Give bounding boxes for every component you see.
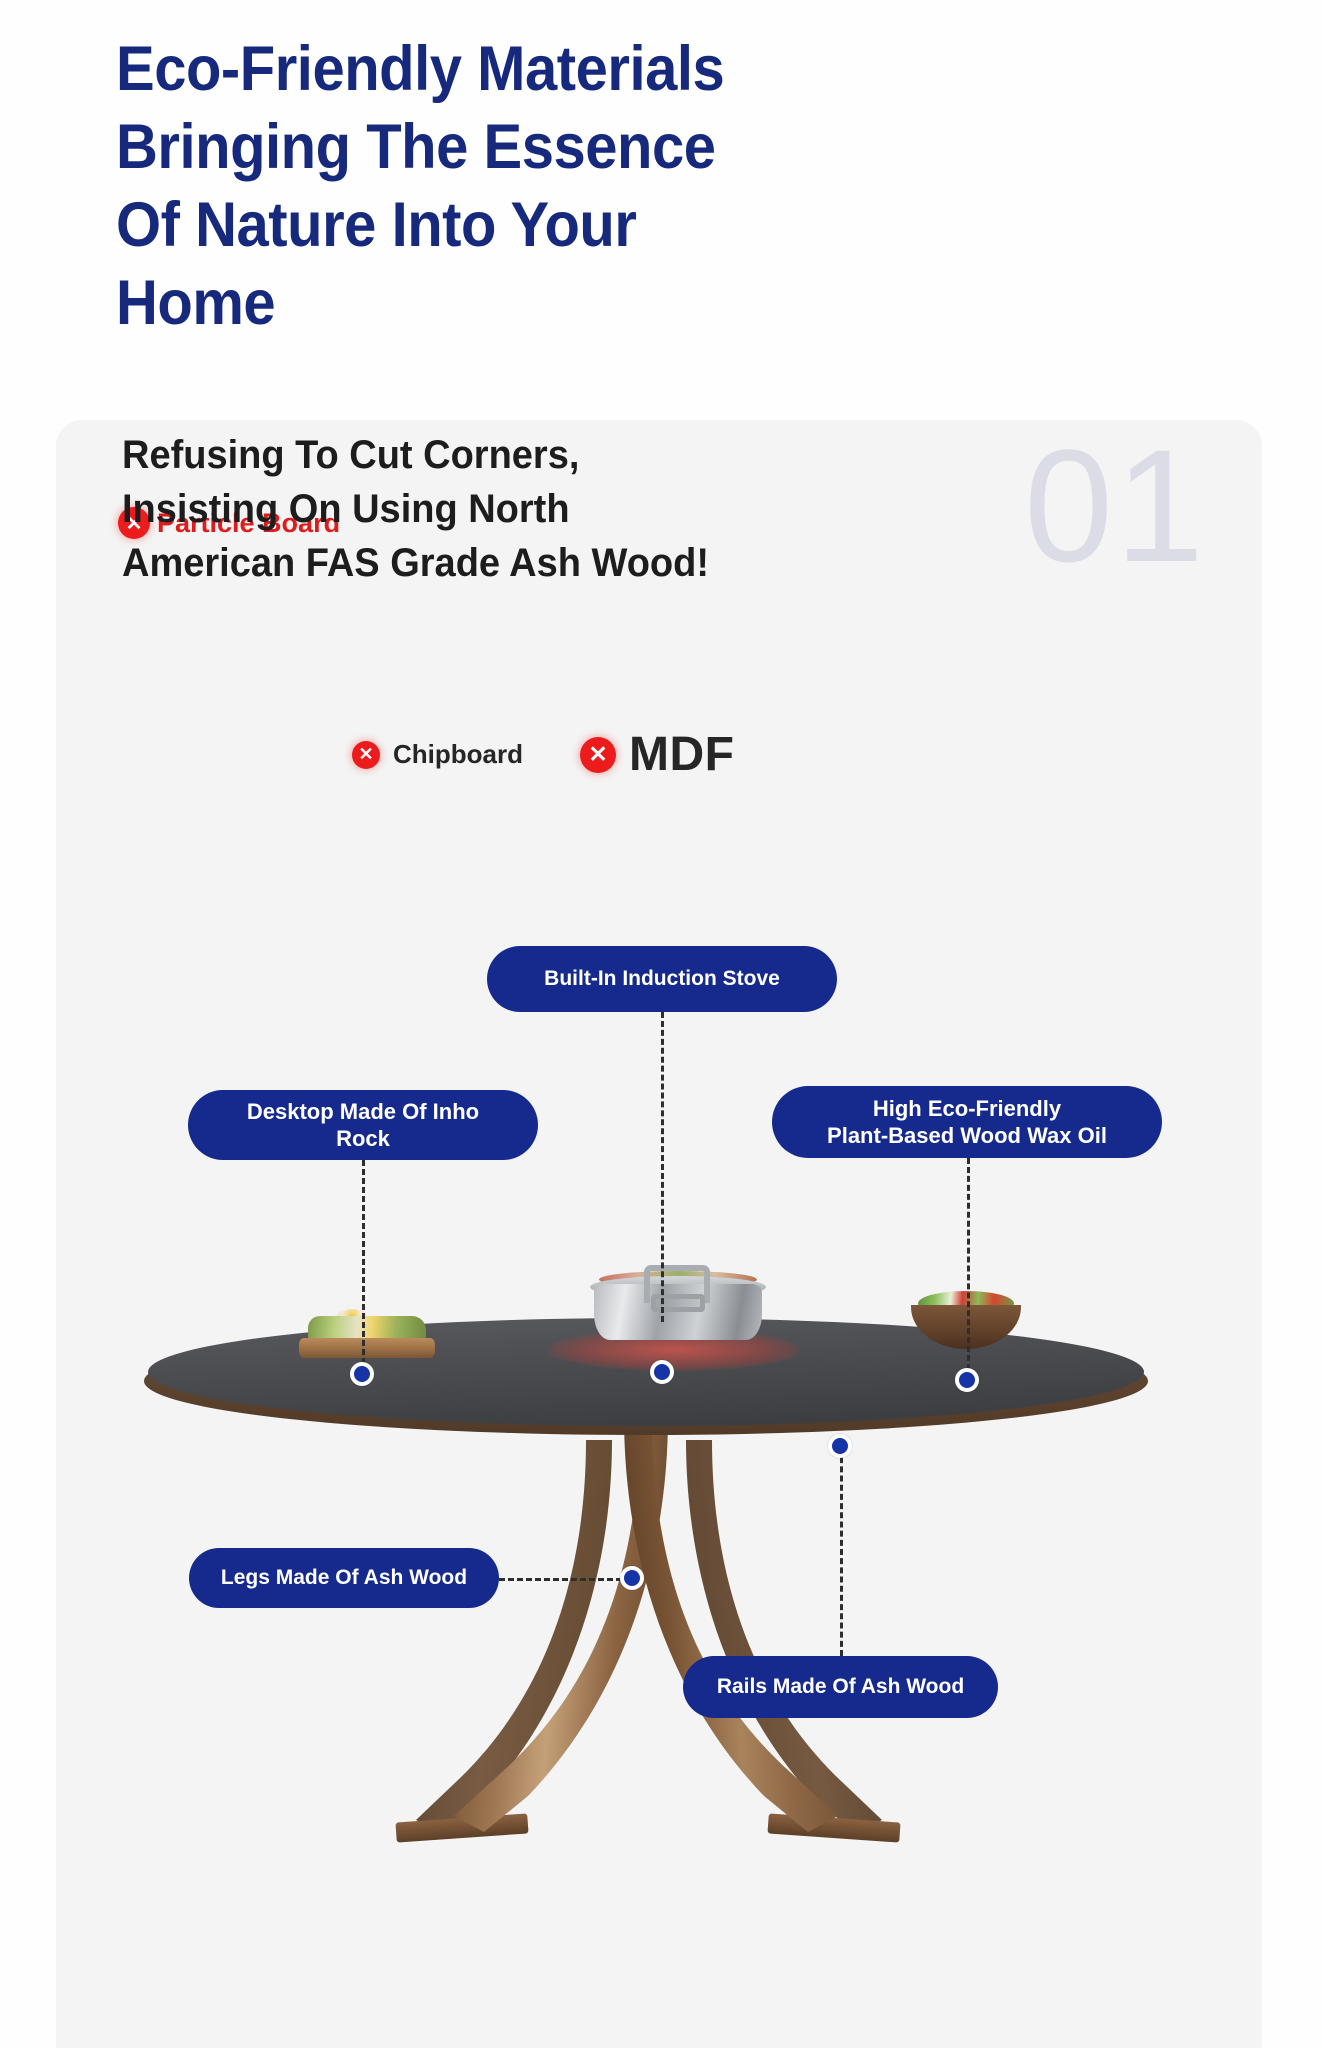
connector-line-desktop: [362, 1160, 365, 1364]
product-image: [56, 880, 1262, 2048]
x-circle-icon: ✕: [580, 737, 616, 773]
rejected-materials-row: ✕ Chipboard ✕ MDF: [352, 727, 734, 782]
pot-handle-lower: [651, 1294, 705, 1312]
connector-line-rails: [840, 1448, 843, 1656]
section-subheading: Refusing To Cut Corners, Insisting On Us…: [122, 428, 873, 590]
wooden-serving-board: [299, 1338, 435, 1358]
connector-line-legs: [499, 1578, 631, 1581]
callout-desktop-made-of-inho-rock[interactable]: Desktop Made Of Inho Rock: [188, 1090, 538, 1160]
page-title: Eco-Friendly Materials Bringing The Esse…: [116, 30, 870, 342]
callout-plant-based-wood-wax-oil[interactable]: High Eco-Friendly Plant-Based Wood Wax O…: [772, 1086, 1162, 1158]
rejected-material-mdf: ✕ MDF: [580, 727, 734, 782]
rejected-material-label: MDF: [629, 727, 734, 782]
callout-built-in-induction-stove[interactable]: Built-In Induction Stove: [487, 946, 837, 1012]
callout-rails-made-of-ash-wood[interactable]: Rails Made Of Ash Wood: [683, 1656, 998, 1718]
product-feature-page: Eco-Friendly Materials Bringing The Esse…: [0, 0, 1322, 2048]
connector-line-stove: [661, 1012, 664, 1322]
rejected-material-label: Chipboard: [393, 739, 523, 770]
hotspot-legs[interactable]: [620, 1566, 644, 1590]
callout-legs-made-of-ash-wood[interactable]: Legs Made Of Ash Wood: [189, 1548, 499, 1608]
hotspot-desktop[interactable]: [350, 1362, 374, 1386]
hotspot-waxoil[interactable]: [955, 1368, 979, 1392]
connector-line-waxoil: [967, 1158, 970, 1370]
hotspot-rails[interactable]: [828, 1434, 852, 1458]
rejected-material-chipboard: ✕ Chipboard: [352, 739, 523, 770]
x-circle-icon: ✕: [352, 741, 380, 769]
section-number: 01: [1024, 426, 1206, 586]
hotspot-stove[interactable]: [650, 1360, 674, 1384]
